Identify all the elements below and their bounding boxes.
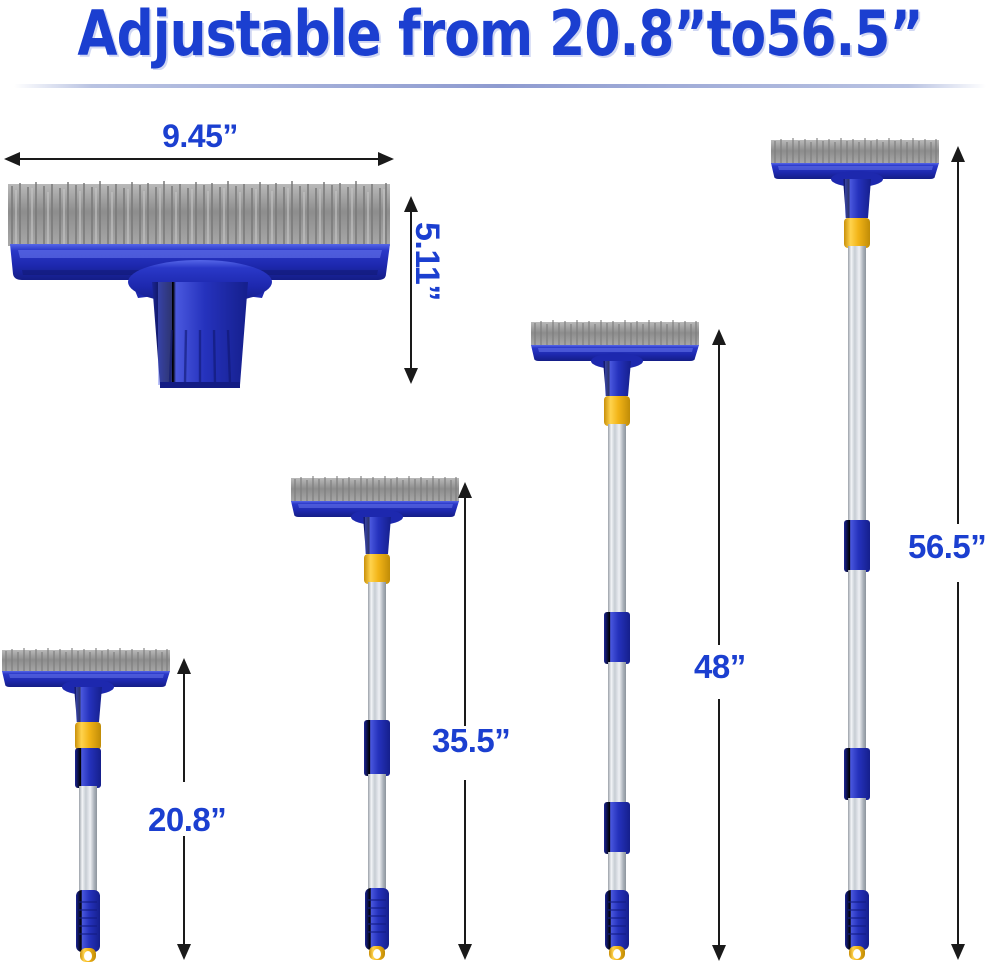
handle-grip bbox=[365, 888, 389, 950]
page-title: Adjustable from 20.8”to56.5” bbox=[35, 0, 965, 69]
hang-loop bbox=[609, 946, 625, 960]
infographic-canvas: Adjustable from 20.8”to56.5” bbox=[0, 0, 1000, 968]
telescoping-pole bbox=[79, 786, 97, 892]
telescoping-pole bbox=[848, 246, 866, 522]
telescoping-pole bbox=[608, 662, 626, 804]
dimension-label-56-5: 56.5” bbox=[908, 528, 986, 566]
bristles bbox=[2, 648, 170, 672]
yellow-collar bbox=[364, 554, 390, 584]
blue-collar bbox=[604, 802, 630, 854]
telescoping-pole bbox=[848, 570, 866, 750]
blue-collar bbox=[844, 520, 870, 572]
dimension-label-35-5: 35.5” bbox=[432, 722, 510, 760]
pole-35-5 bbox=[285, 468, 465, 962]
bristles bbox=[771, 138, 939, 164]
dimension-48 bbox=[707, 325, 731, 965]
dimension-35-5 bbox=[453, 478, 477, 964]
bristles bbox=[531, 320, 699, 346]
pole-48 bbox=[525, 312, 705, 962]
handle-grip bbox=[605, 890, 629, 950]
header-divider bbox=[14, 84, 986, 88]
dimension-label-48: 48” bbox=[694, 648, 746, 686]
hang-loop bbox=[369, 946, 385, 960]
hang-loop bbox=[849, 946, 865, 960]
dimension-label-width: 9.45” bbox=[0, 118, 400, 155]
blue-collar bbox=[364, 720, 390, 776]
hang-loop bbox=[80, 948, 96, 962]
telescoping-pole bbox=[608, 852, 626, 892]
bristles-closeup bbox=[8, 181, 390, 246]
bristles bbox=[291, 476, 459, 502]
telescoping-pole bbox=[848, 798, 866, 892]
brush-head-closeup bbox=[0, 170, 400, 390]
blue-collar bbox=[844, 748, 870, 800]
yellow-collar bbox=[75, 722, 101, 750]
blue-collar bbox=[75, 748, 101, 788]
telescoping-pole bbox=[368, 582, 386, 722]
telescoping-pole bbox=[608, 424, 626, 614]
telescoping-pole bbox=[368, 774, 386, 890]
header: Adjustable from 20.8”to56.5” bbox=[0, 0, 1000, 92]
dimension-label-height: 5.11” bbox=[407, 222, 446, 301]
blue-collar bbox=[604, 612, 630, 664]
handle-grip bbox=[845, 890, 869, 950]
dimension-label-20-8: 20.8” bbox=[148, 801, 226, 839]
yellow-collar bbox=[844, 218, 870, 248]
yellow-collar bbox=[604, 396, 630, 426]
brush-socket bbox=[152, 282, 248, 388]
handle-grip bbox=[76, 890, 100, 952]
